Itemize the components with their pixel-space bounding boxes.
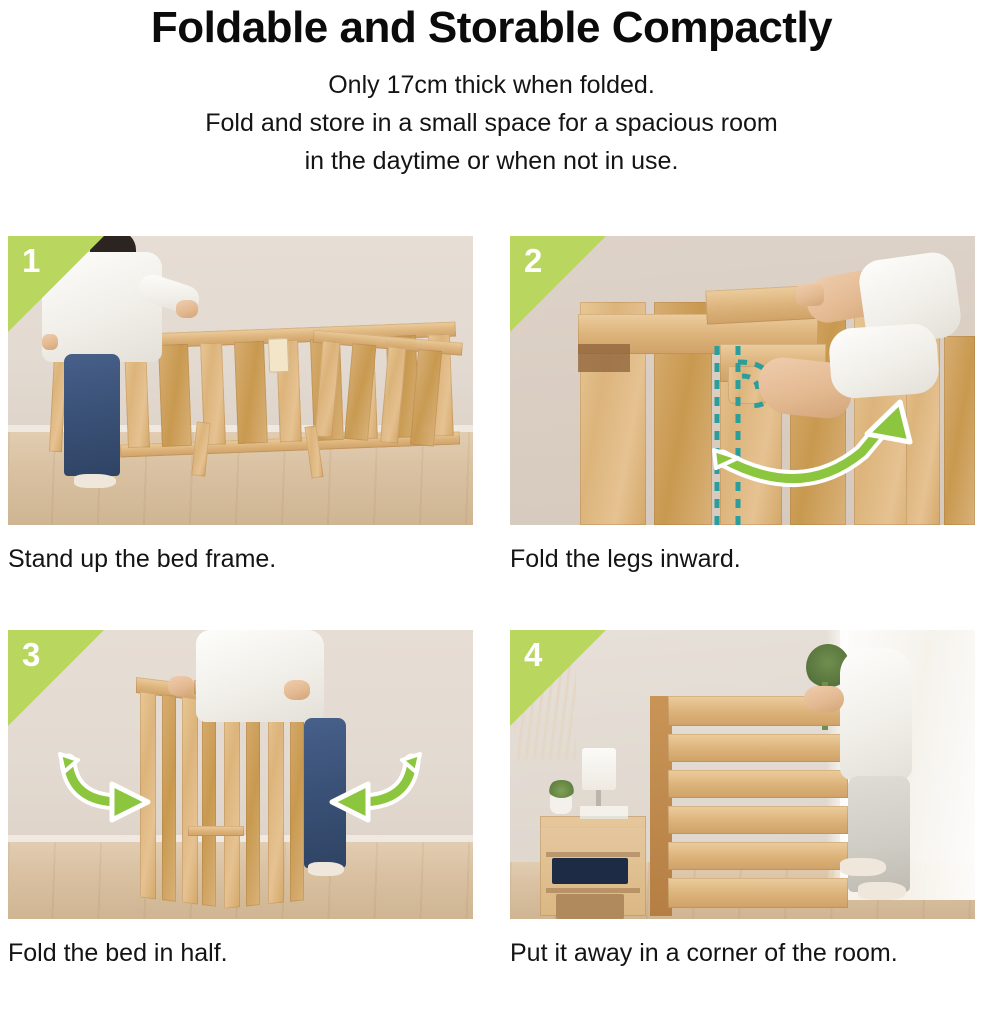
step-1-photo: 1 <box>8 236 473 525</box>
step-2: 2 Fold the legs inward. <box>510 236 975 575</box>
step-2-caption: Fold the legs inward. <box>510 525 975 575</box>
step-3-photo: 3 <box>8 630 473 919</box>
step-1: 1 Stand up the bed frame. <box>8 236 473 575</box>
steps-grid: 1 Stand up the bed frame. <box>8 236 975 969</box>
subtitle-line-3: in the daytime or when not in use. <box>0 142 983 180</box>
step-3: 3 Fold the bed in half. <box>8 630 473 969</box>
scene-folded-bed-stored-against-wall <box>510 630 975 919</box>
page-header: Foldable and Storable Compactly Only 17c… <box>0 0 983 180</box>
scene-bed-folded-in-half-v-shape <box>8 630 473 919</box>
subtitle-line-2: Fold and store in a small space for a sp… <box>0 104 983 142</box>
subtitle-line-1: Only 17cm thick when folded. <box>0 66 983 104</box>
curved-arrow-green-up-right-icon <box>510 236 975 525</box>
page-title: Foldable and Storable Compactly <box>0 2 983 54</box>
step-4-photo: 4 <box>510 630 975 919</box>
macrame-wall-hanging <box>514 648 576 760</box>
scene-person-standing-folded-bed-frame <box>8 236 473 525</box>
page-subtitle: Only 17cm thick when folded. Fold and st… <box>0 54 983 180</box>
step-3-caption: Fold the bed in half. <box>8 919 473 969</box>
step-1-caption: Stand up the bed frame. <box>8 525 473 575</box>
table-lamp <box>582 748 616 790</box>
step-2-photo: 2 <box>510 236 975 525</box>
step-4-caption: Put it away in a corner of the room. <box>510 919 975 969</box>
step-4: 4 Put it away in a corner of the room. <box>510 630 975 969</box>
arrow-green-left-icon <box>8 630 473 919</box>
scene-hands-folding-leg-closeup <box>510 236 975 525</box>
